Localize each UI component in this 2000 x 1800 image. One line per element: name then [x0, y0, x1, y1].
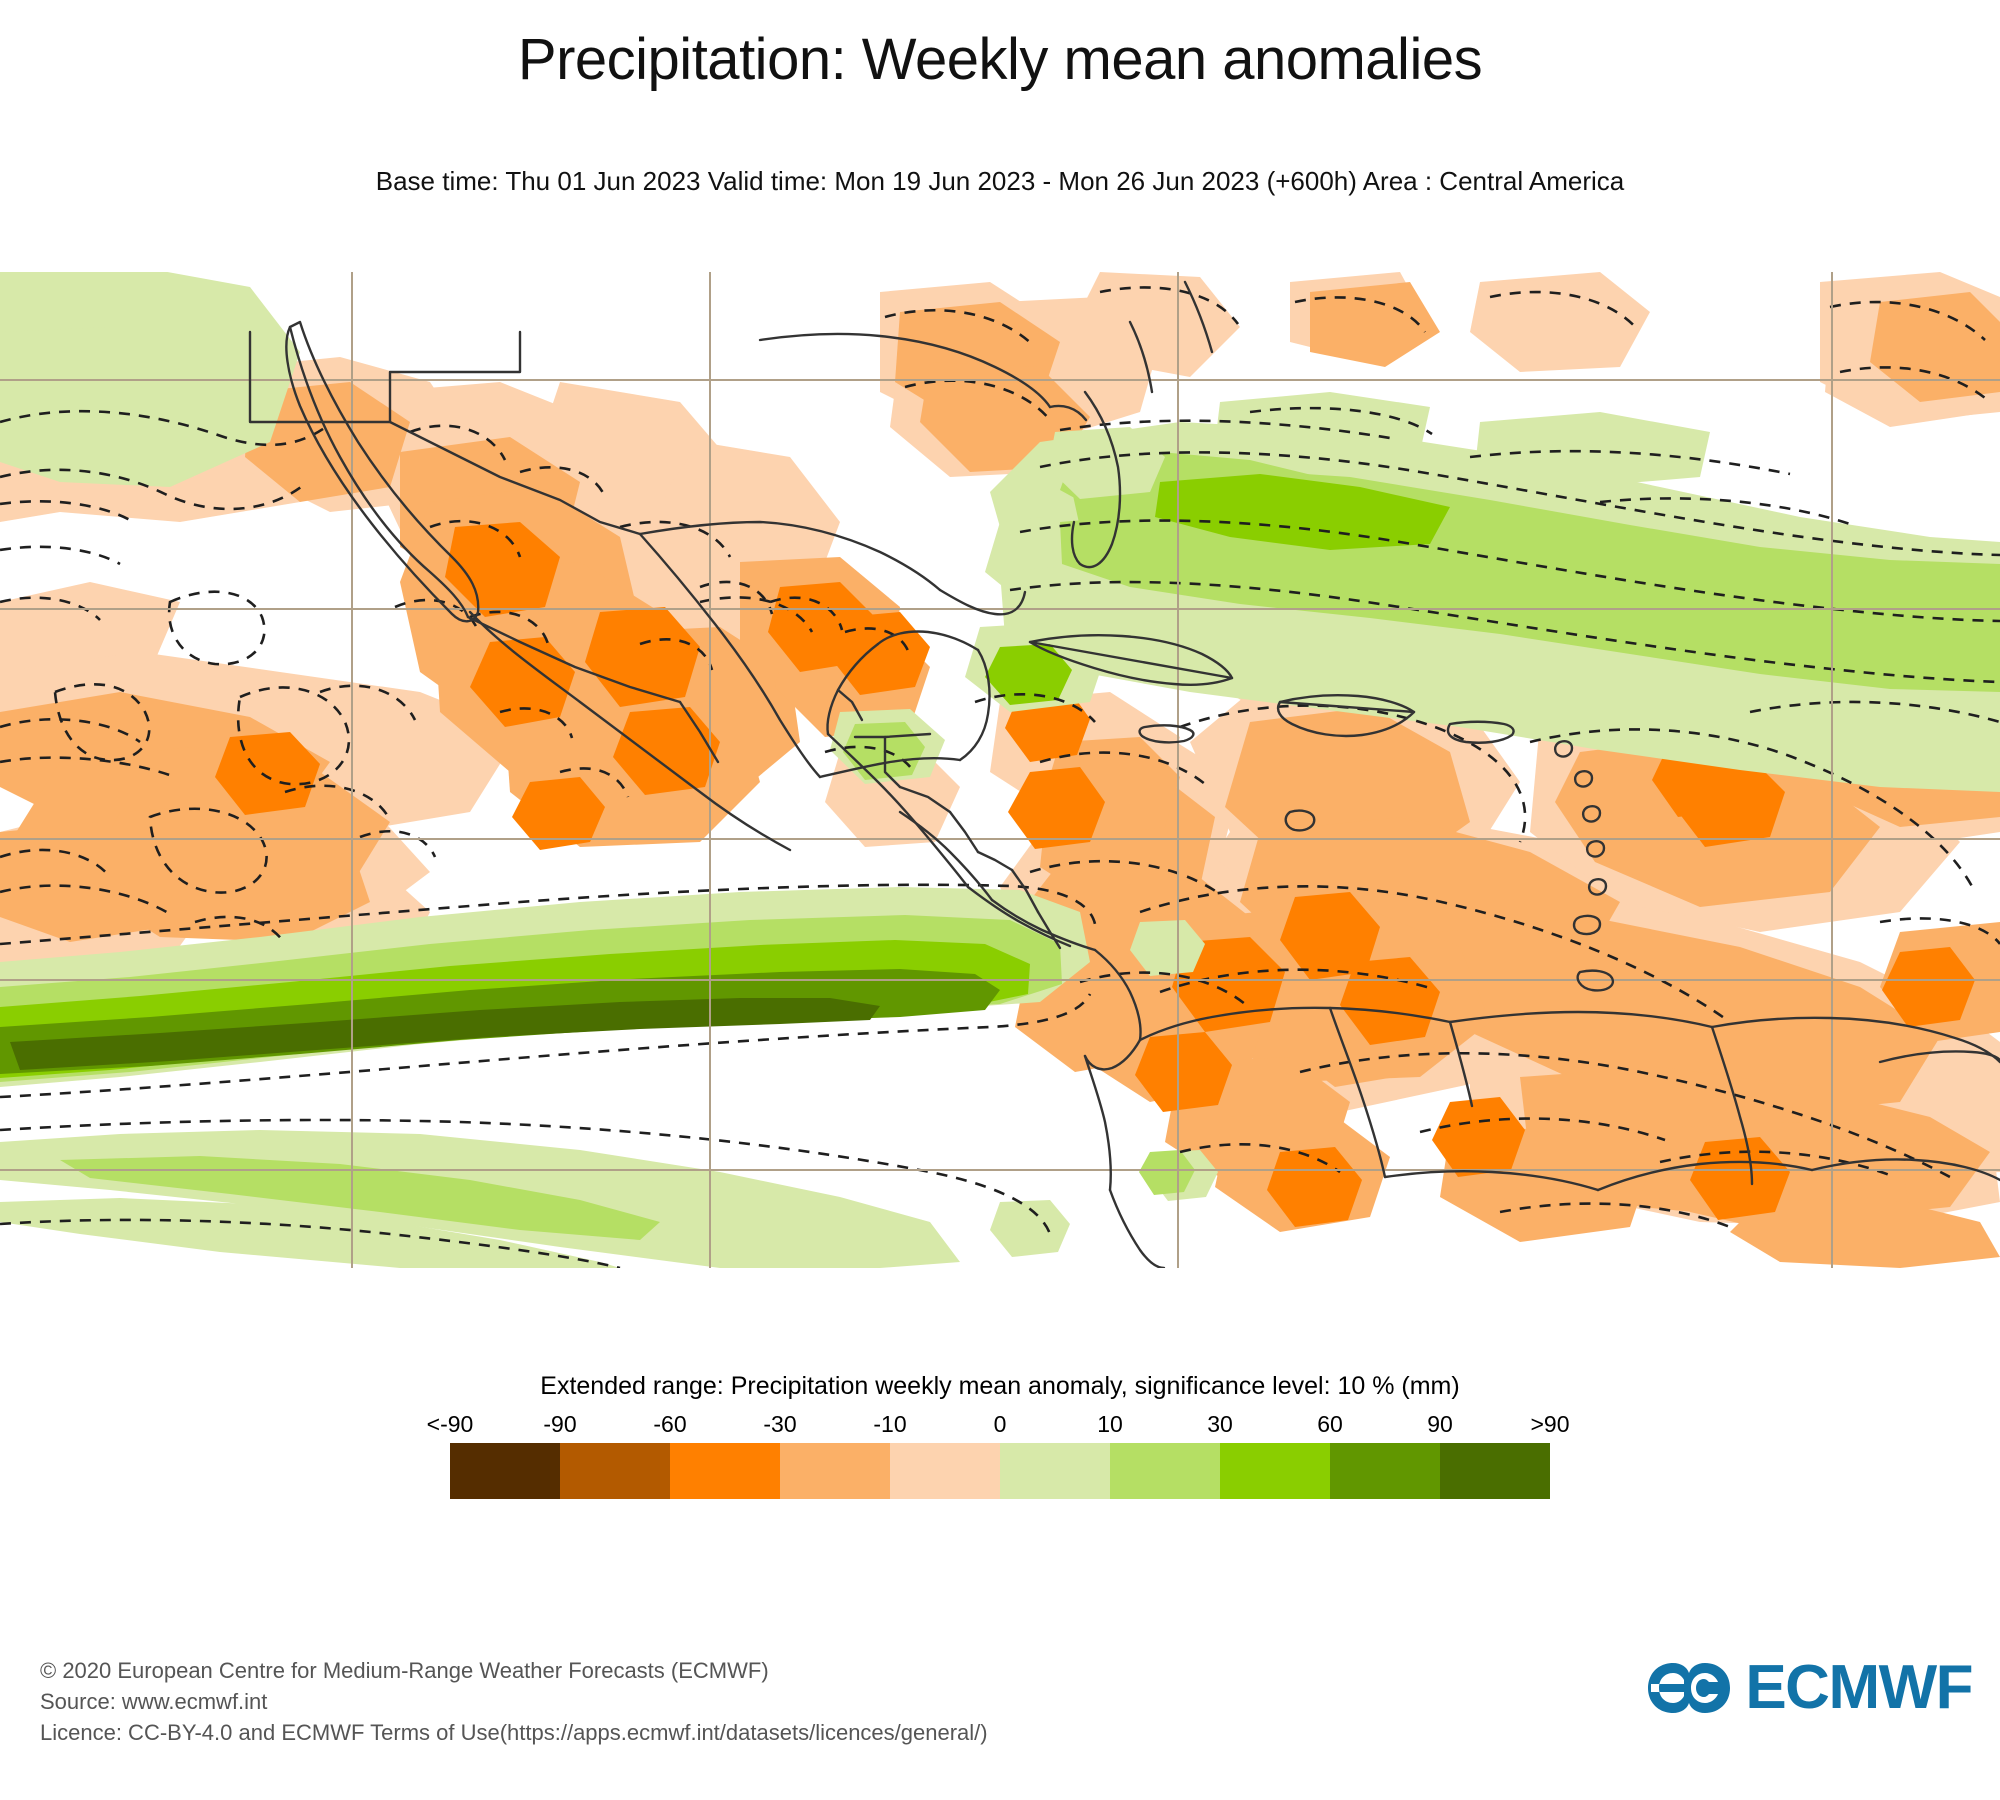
ecmwf-logo-text: ECMWF — [1745, 1652, 1972, 1723]
page-title: Precipitation: Weekly mean anomalies — [0, 28, 2000, 92]
legend-swatch-8[interactable] — [1330, 1443, 1440, 1499]
footer-copyright: © 2020 European Centre for Medium-Range … — [40, 1655, 988, 1686]
anomaly-map[interactable] — [0, 272, 2000, 1268]
legend-swatch-6[interactable] — [1110, 1443, 1220, 1499]
legend-tick-3: -30 — [763, 1411, 796, 1438]
map-panel[interactable] — [0, 272, 2000, 1268]
ecmwf-mark-icon — [1643, 1657, 1735, 1719]
footer-source: Source: www.ecmwf.int — [40, 1686, 988, 1717]
legend: Extended range: Precipitation weekly mea… — [0, 1372, 2000, 1499]
legend-swatch-5[interactable] — [1000, 1443, 1110, 1499]
legend-swatch-7[interactable] — [1220, 1443, 1330, 1499]
legend-swatch-1[interactable] — [560, 1443, 670, 1499]
footer: © 2020 European Centre for Medium-Range … — [40, 1655, 988, 1749]
legend-title: Extended range: Precipitation weekly mea… — [0, 1372, 2000, 1401]
legend-swatch-4[interactable] — [890, 1443, 1000, 1499]
subtitle: Base time: Thu 01 Jun 2023 Valid time: M… — [0, 166, 2000, 197]
legend-swatch-9[interactable] — [1440, 1443, 1550, 1499]
legend-swatch-2[interactable] — [670, 1443, 780, 1499]
legend-tick-labels: <-90-90-60-30-10010306090>90 — [450, 1411, 1550, 1443]
legend-tick-10: >90 — [1530, 1411, 1569, 1438]
legend-tick-1: -90 — [543, 1411, 576, 1438]
legend-tick-4: -10 — [873, 1411, 906, 1438]
legend-tick-5: 0 — [994, 1411, 1007, 1438]
legend-swatch-3[interactable] — [780, 1443, 890, 1499]
legend-colorbar[interactable] — [450, 1443, 1550, 1499]
legend-tick-8: 60 — [1317, 1411, 1343, 1438]
footer-licence: Licence: CC-BY-4.0 and ECMWF Terms of Us… — [40, 1717, 988, 1748]
legend-tick-6: 10 — [1097, 1411, 1123, 1438]
legend-swatch-0[interactable] — [450, 1443, 560, 1499]
legend-tick-0: <-90 — [427, 1411, 474, 1438]
legend-tick-2: -60 — [653, 1411, 686, 1438]
legend-tick-7: 30 — [1207, 1411, 1233, 1438]
ecmwf-logo[interactable]: ECMWF — [1643, 1652, 1972, 1723]
legend-tick-9: 90 — [1427, 1411, 1453, 1438]
